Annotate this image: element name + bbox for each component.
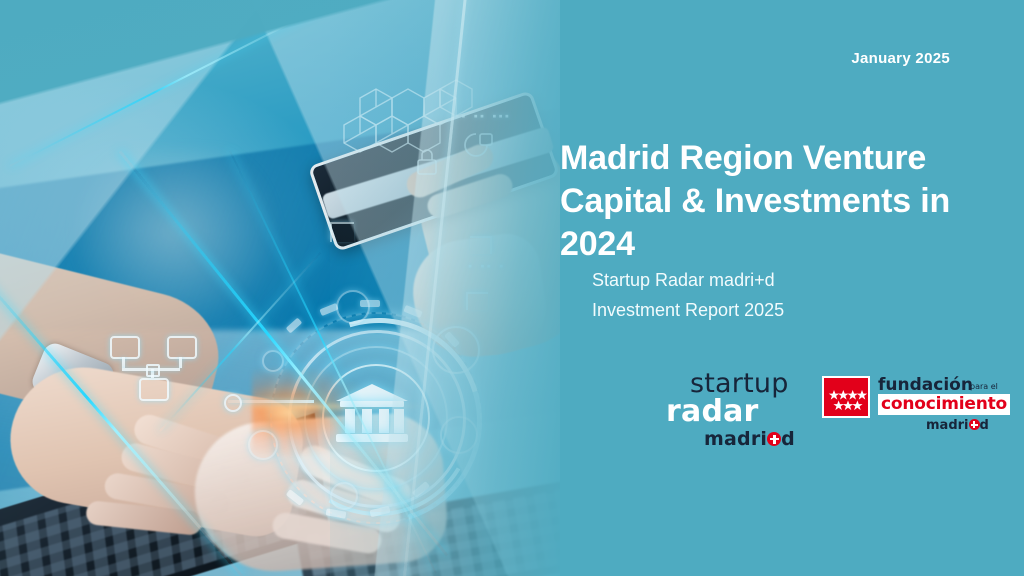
madrid-suffix: d (980, 418, 989, 433)
madrid-prefix: madri (926, 418, 969, 433)
conocimiento-word: conocimiento (881, 394, 1007, 414)
conocimiento-box: conocimiento (878, 394, 1010, 415)
slide-subtitle: Startup Radar madri+d Investment Report … (592, 266, 972, 325)
plus-cross-icon (969, 419, 980, 430)
monitor-stem (179, 357, 182, 368)
madrid-coat-of-arms-icon (822, 376, 870, 418)
slide-date: January 2025 (851, 50, 950, 67)
network-monitors-icon (110, 336, 196, 402)
fundacion-madrid-word: madrid (926, 418, 989, 433)
startup-radar-word-madrid: madrid (704, 428, 795, 450)
subtitle-line-1: Startup Radar madri+d (592, 266, 972, 296)
startup-radar-logo[interactable]: startup radar madrid (666, 366, 806, 450)
subtitle-line-2: Investment Report 2025 (592, 296, 972, 326)
hud-mini-circle (248, 430, 278, 460)
startup-radar-word-radar: radar (666, 394, 759, 429)
madrid-prefix: madri (704, 428, 767, 450)
plus-cross-icon (767, 432, 781, 446)
page-title: Madrid Region Venture Capital & Investme… (560, 137, 980, 267)
hud-connector-node (224, 394, 242, 412)
monitor-icon (139, 378, 169, 401)
para-el-word: para el (970, 382, 998, 391)
monitor-icon (167, 336, 197, 359)
fundacion-word: fundación (878, 375, 973, 395)
photo-right-fade (330, 0, 560, 576)
presentation-slide: ▪▪ ▪▪ ▪▪▪ ▪ ▪▪ ▪ January 2025 Madrid Reg… (0, 0, 1024, 576)
logo-row: startup radar madrid (660, 366, 1000, 456)
monitor-stem (122, 357, 125, 368)
seven-stars-icon (824, 378, 872, 420)
cover-photo: ▪▪ ▪▪ ▪▪▪ ▪ ▪▪ ▪ (0, 0, 560, 576)
fundacion-conocimiento-logo[interactable]: fundación para el conocimiento madrid (822, 372, 1002, 448)
monitor-icon (110, 336, 140, 359)
network-hub (146, 364, 160, 377)
madrid-suffix: d (781, 428, 795, 450)
